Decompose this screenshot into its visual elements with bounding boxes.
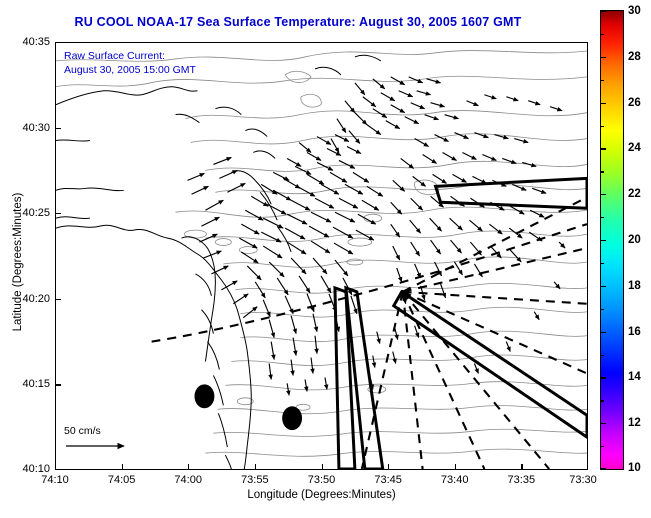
cb-label-30: 30 [628,5,641,17]
x-tick-label-2: 74:00 [174,474,202,486]
x-tick-label-5: 73:45 [374,474,402,486]
coastline [56,55,381,469]
cb-tick-16 [600,332,606,333]
subtitle-line-2: August 30, 2005 15:00 GMT [64,63,196,77]
cb-tick-12 [600,423,606,424]
cb-tick-26 [600,103,606,104]
y-axis-title: Latitude (Degrees:Minutes) [12,162,24,362]
cb-tick-20 [600,240,606,241]
sst-map-figure: RU COOL NOAA-17 Sea Surface Temperature:… [0,0,651,518]
y-tick-4 [55,384,61,385]
cb-label-24: 24 [628,142,641,154]
x-tick-label-0: 74:10 [41,474,69,486]
cb-minor-11 [600,446,604,447]
velocity-scale-bar: 50 cm/s [64,425,136,453]
cb-minor-21 [600,217,604,218]
cb-tick-28 [600,57,606,58]
cb-label-10: 10 [628,462,641,474]
x-axis-title: Longitude (Degrees:Minutes) [55,489,588,501]
scale-bar-label: 50 cm/s [64,425,136,437]
y-tick-1 [55,128,61,129]
cb-label-28: 28 [628,51,641,63]
radar-station-markers [194,384,302,430]
cb-minor-15 [600,355,604,356]
current-vector-field [188,77,566,396]
x-tick-3 [255,464,256,470]
cb-minor-25 [600,126,604,127]
x-tick-5 [388,464,389,470]
x-tick-label-4: 73:50 [308,474,336,486]
map-graphics [56,43,587,469]
cb-minor-29 [600,34,604,35]
y-tick-label-1: 40:30 [12,122,50,134]
x-tick-label-6: 73:40 [441,474,469,486]
cb-tick-22 [600,194,606,195]
cb-tick-10 [600,468,606,469]
cb-label-14: 14 [628,371,641,383]
cb-minor-13 [600,400,604,401]
bathymetry-contours [56,51,587,457]
cb-minor-19 [600,263,604,264]
subtitle-block: Raw Surface Current: August 30, 2005 15:… [64,49,196,77]
y-tick-label-0: 40:35 [12,36,50,48]
x-tick-2 [188,464,189,470]
cb-label-22: 22 [628,188,641,200]
cb-minor-17 [600,309,604,310]
x-tick-label-7: 73:35 [508,474,536,486]
cb-label-18: 18 [628,280,641,292]
y-tick-3 [55,299,61,300]
scale-bar-arrow-icon [64,439,136,453]
y-tick-label-4: 40:15 [12,378,50,390]
x-tick-4 [322,464,323,470]
cb-minor-27 [600,80,604,81]
y-tick-label-5: 40:10 [12,463,50,475]
subtitle-line-1: Raw Surface Current: [64,49,196,63]
figure-title: RU COOL NOAA-17 Sea Surface Temperature:… [0,15,596,29]
map-plot-area[interactable]: Raw Surface Current: August 30, 2005 15:… [55,42,588,470]
x-tick-label-8: 73:30 [569,474,597,486]
cb-minor-23 [600,171,604,172]
cb-label-26: 26 [628,97,641,109]
cb-tick-18 [600,286,606,287]
x-tick-7 [521,464,522,470]
x-tick-1 [122,464,123,470]
x-tick-label-3: 73:55 [241,474,269,486]
upper-dashed-line [152,224,587,341]
y-tick-2 [55,213,61,214]
y-tick-0 [55,42,61,43]
y-tick-5 [55,469,61,470]
x-tick-6 [455,464,456,470]
cb-label-20: 20 [628,234,641,246]
x-tick-label-1: 74:05 [108,474,136,486]
cb-label-16: 16 [628,326,641,338]
cb-tick-24 [600,148,606,149]
cb-tick-30 [600,11,606,12]
cb-label-12: 12 [628,417,641,429]
x-tick-8 [587,464,588,470]
cb-tick-14 [600,377,606,378]
